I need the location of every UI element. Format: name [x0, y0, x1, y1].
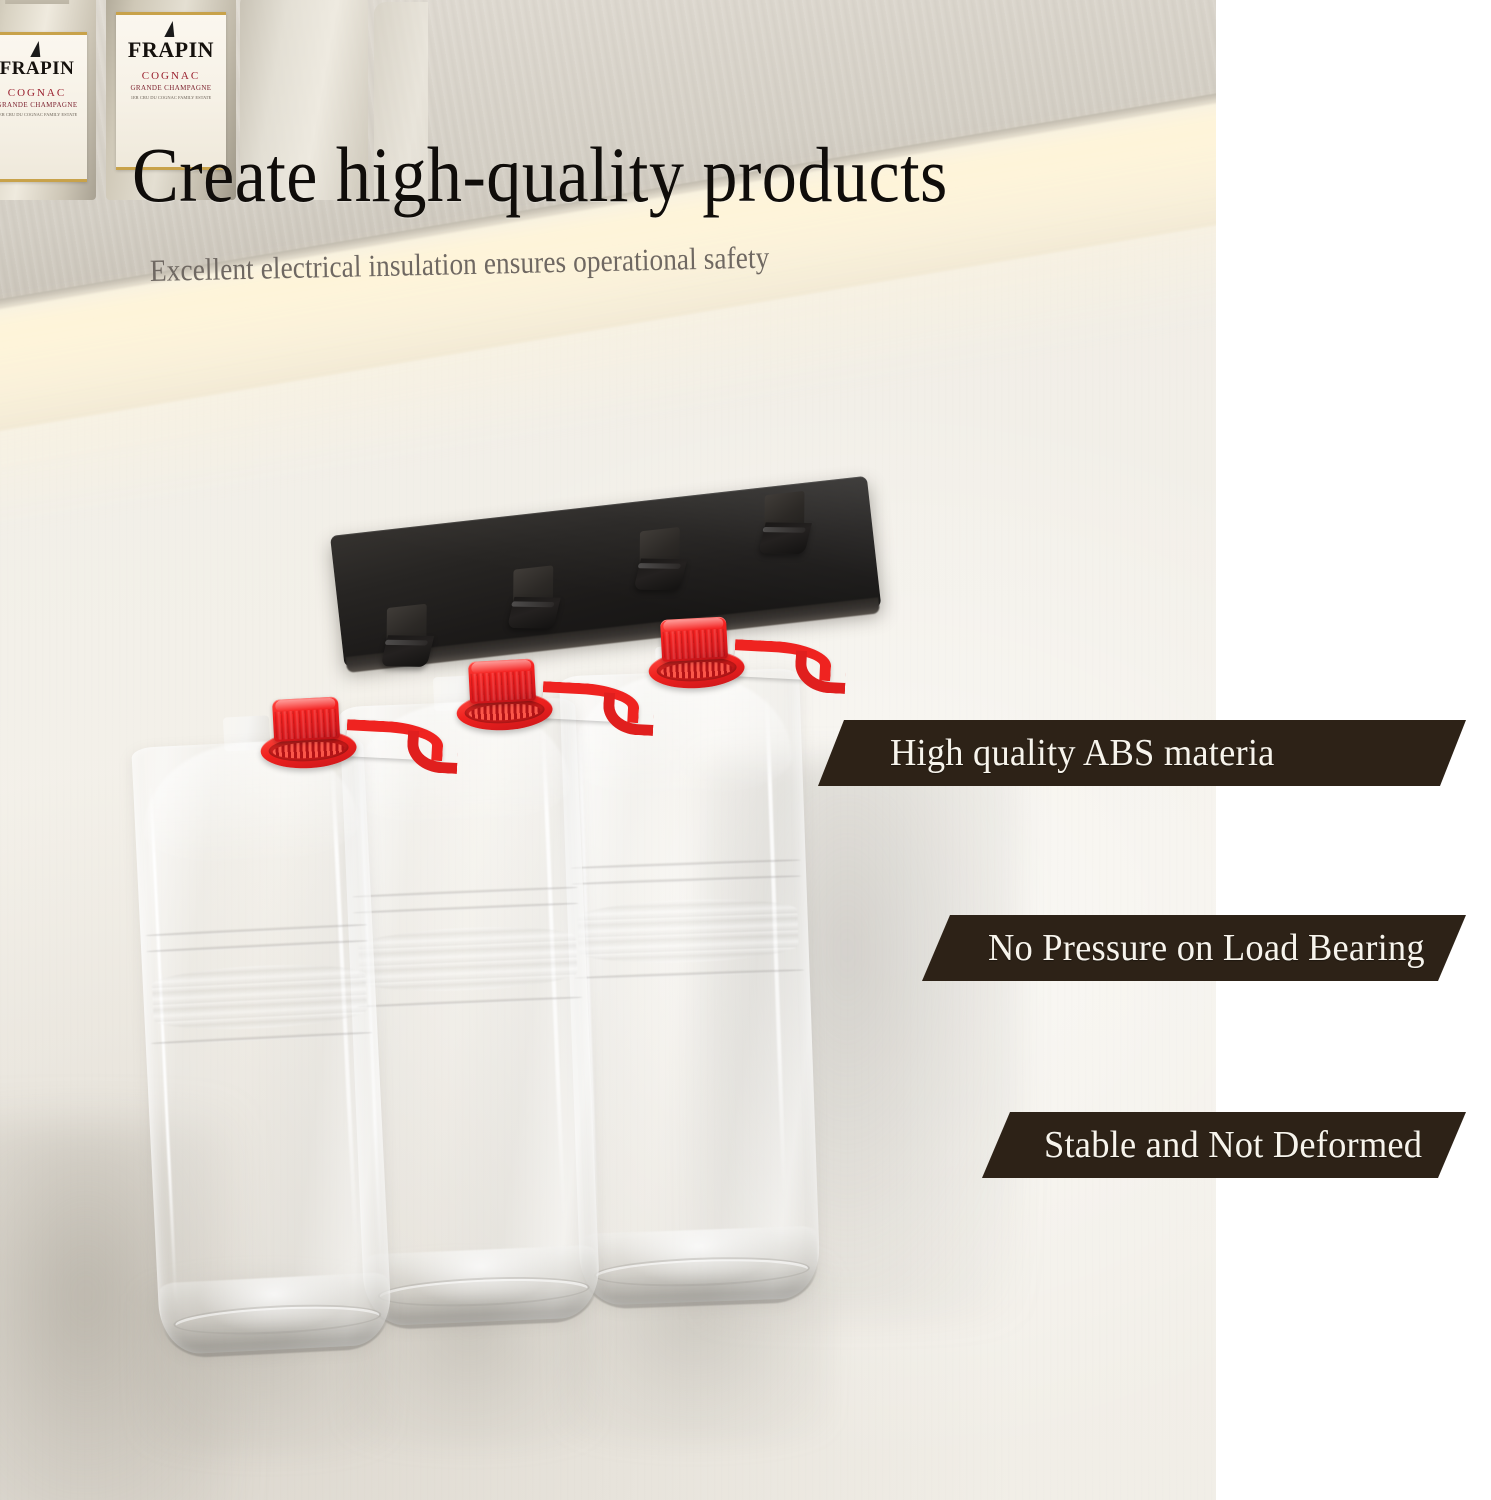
feature-banner-1: High quality ABS materia — [818, 720, 1466, 786]
rack-hook-4 — [756, 491, 809, 558]
frapin-flame-icon — [164, 21, 177, 37]
water-bottle-1 — [131, 737, 392, 1356]
bottle-body — [131, 737, 392, 1356]
cognac-subtitle: GRANDE CHAMPAGNE — [0, 101, 78, 109]
cognac-category: COGNAC — [8, 87, 66, 99]
red-bottle-cap — [660, 617, 728, 662]
cognac-subtitle: GRANDE CHAMPAGNE — [130, 84, 211, 92]
cognac-fineprint: 1ER CRU DU COGNAC FAMILY ESTATE — [0, 112, 77, 119]
bottle-body — [559, 668, 821, 1306]
feature-banner-3: Stable and Not Deformed — [982, 1112, 1466, 1178]
product-feature-image: FRAPIN COGNAC GRANDE CHAMPAGNE 1ER CRU D… — [0, 0, 1491, 1500]
red-bottle-cap — [272, 697, 340, 742]
feature-banner-2-label: No Pressure on Load Bearing — [988, 926, 1425, 970]
page-title: Create high-quality products — [132, 136, 948, 214]
cognac-brand: FRAPIN — [128, 39, 214, 61]
bottle-cap — [5, 0, 69, 4]
cognac-category: COGNAC — [142, 70, 200, 82]
rack-hook-3 — [631, 527, 684, 594]
feature-banner-1-label: High quality ABS materia — [890, 731, 1275, 775]
water-bottle-3 — [559, 668, 821, 1306]
cognac-fineprint: 1ER CRU DU COGNAC FAMILY ESTATE — [131, 95, 212, 102]
feature-banner-3-label: Stable and Not Deformed — [1044, 1123, 1422, 1167]
cognac-label-1: FRAPIN COGNAC GRANDE CHAMPAGNE 1ER CRU D… — [0, 32, 87, 182]
frapin-flame-icon — [30, 41, 43, 57]
rack-hook-1 — [378, 604, 431, 671]
feature-banner-2: No Pressure on Load Bearing — [922, 915, 1466, 981]
red-bottle-cap — [468, 659, 536, 704]
cognac-brand: FRAPIN — [0, 59, 74, 78]
cognac-bottle-1: FRAPIN COGNAC GRANDE CHAMPAGNE 1ER CRU D… — [0, 0, 96, 200]
rack-hook-2 — [505, 566, 558, 633]
